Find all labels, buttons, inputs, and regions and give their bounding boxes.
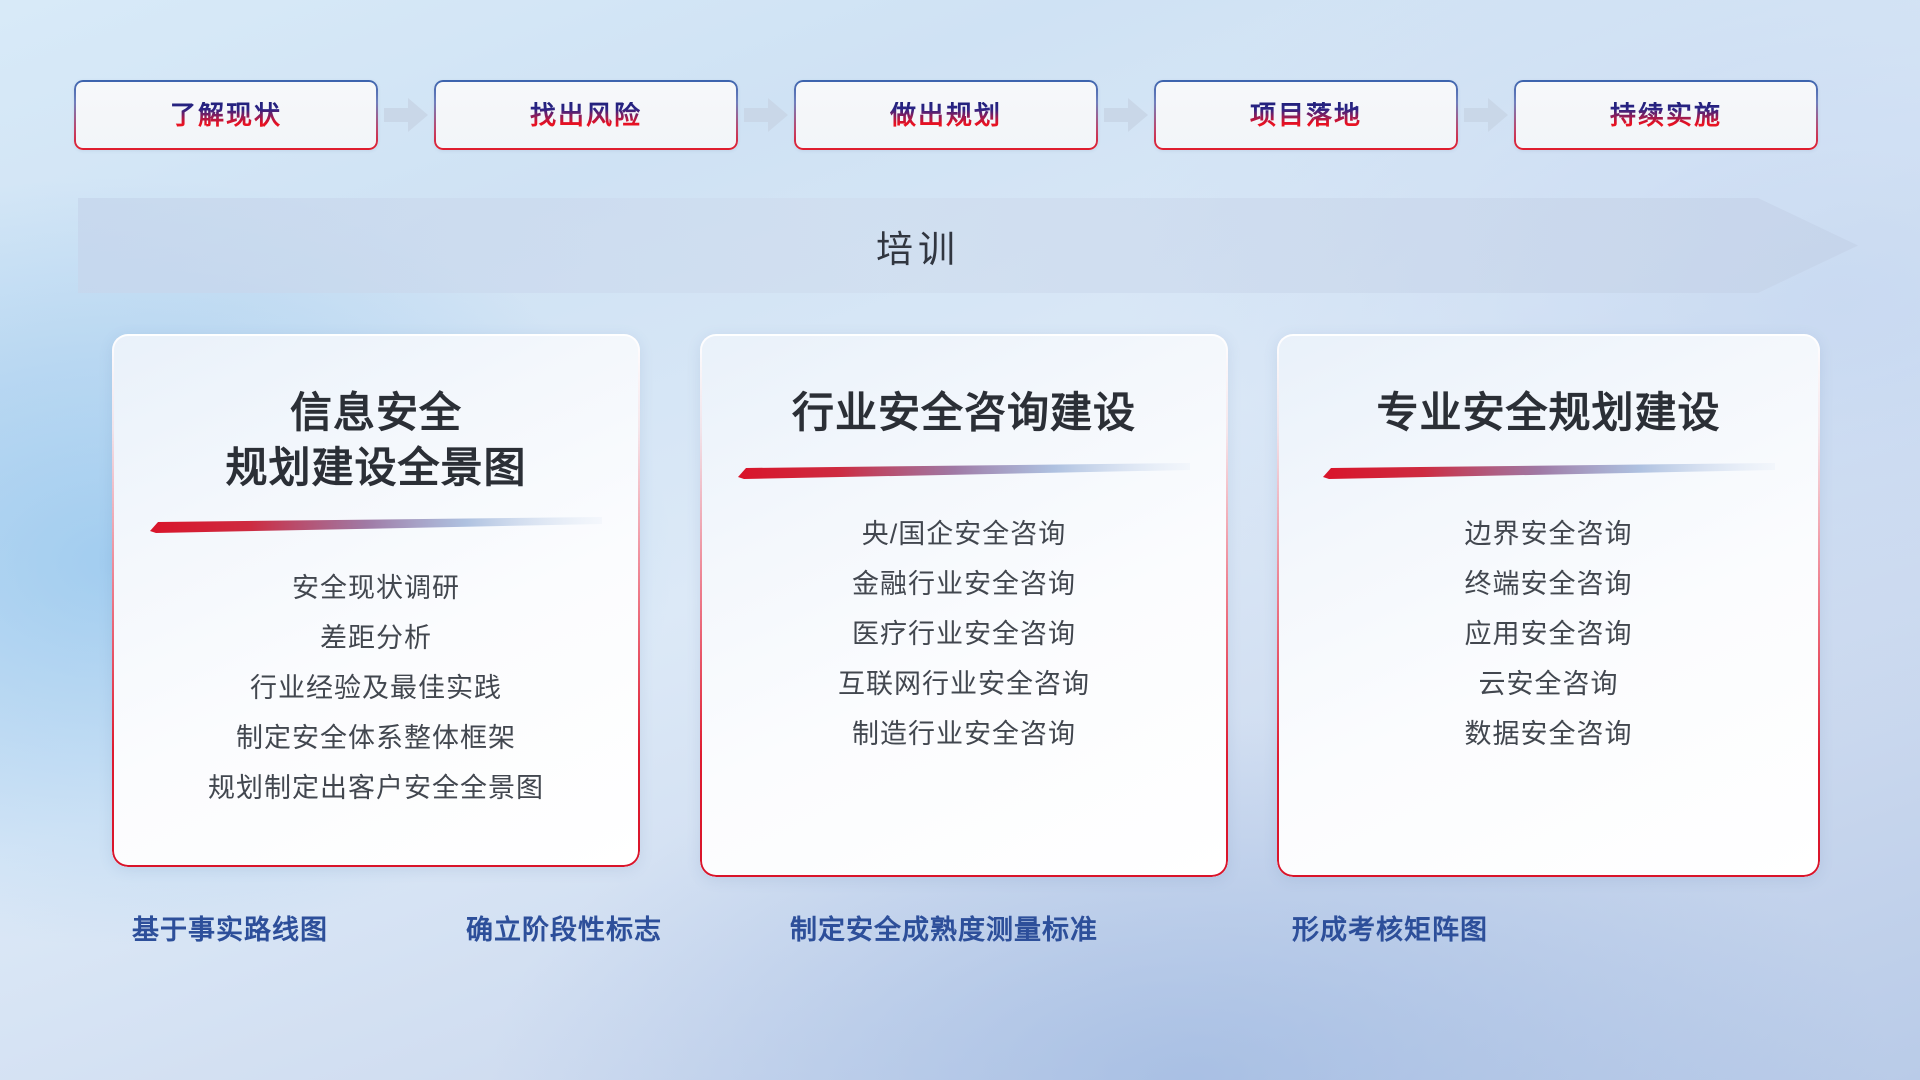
step-box-2[interactable]: 找出风险 [434, 80, 738, 150]
step-box-5[interactable]: 持续实施 [1514, 80, 1818, 150]
list-item: 制定安全体系整体框架 [236, 713, 516, 763]
card-1-inner: 信息安全 规划建设全景图 [112, 334, 640, 867]
step-box-1[interactable]: 了解现状 [74, 80, 378, 150]
list-item: 边界安全咨询 [1465, 509, 1633, 559]
step-label-5: 持续实施 [1610, 102, 1722, 128]
list-item: 差距分析 [320, 613, 432, 663]
step-arrow-icon-4 [1458, 95, 1514, 135]
footer-label-milestone: 确立阶段性标志 [466, 910, 662, 950]
card-3-list: 边界安全咨询 终端安全咨询 应用安全咨询 云安全咨询 数据安全咨询 [1465, 509, 1633, 759]
list-item: 应用安全咨询 [1465, 609, 1633, 659]
step-label-3: 做出规划 [890, 102, 1002, 128]
step-box-3[interactable]: 做出规划 [794, 80, 1098, 150]
list-item: 央/国企安全咨询 [862, 509, 1067, 559]
card-industry-security-consulting[interactable]: 行业安全咨询建设 [700, 334, 1228, 877]
list-item: 数据安全咨询 [1465, 709, 1633, 759]
list-item: 规划制定出客户安全全景图 [208, 763, 544, 813]
step-box-4[interactable]: 项目落地 [1154, 80, 1458, 150]
card-3-title: 专业安全规划建设 [1376, 386, 1720, 441]
step-label-4: 项目落地 [1250, 102, 1362, 128]
footer-label-row: 基于事实路线图 确立阶段性标志 制定安全成熟度测量标准 形成考核矩阵图 [0, 910, 1920, 960]
card-row: 信息安全 规划建设全景图 [0, 334, 1920, 874]
step-arrow-icon-3 [1098, 95, 1154, 135]
list-item: 互联网行业安全咨询 [838, 659, 1090, 709]
list-item: 制造行业安全咨询 [852, 709, 1076, 759]
list-item: 终端安全咨询 [1465, 559, 1633, 609]
list-item: 云安全咨询 [1479, 659, 1619, 709]
banner-title: 培训 [78, 198, 1758, 293]
card-2-inner: 行业安全咨询建设 [700, 334, 1228, 877]
card-3-inner: 专业安全规划建设 [1277, 334, 1820, 877]
card-information-security-blueprint[interactable]: 信息安全 规划建设全景图 [112, 334, 640, 867]
card-2-divider [738, 463, 1190, 479]
process-step-row: 了解现状 找出风险 做出规划 项目落地 [0, 76, 1920, 154]
slide-canvas: 了解现状 找出风险 做出规划 项目落地 [0, 0, 1920, 1080]
list-item: 金融行业安全咨询 [852, 559, 1076, 609]
step-arrow-icon-1 [378, 95, 434, 135]
list-item: 安全现状调研 [292, 563, 460, 613]
card-2-title: 行业安全咨询建设 [792, 386, 1136, 441]
card-1-divider [150, 517, 602, 533]
footer-label-matrix: 形成考核矩阵图 [1292, 910, 1488, 950]
footer-label-maturity: 制定安全成熟度测量标准 [790, 910, 1098, 950]
step-arrow-icon-2 [738, 95, 794, 135]
card-professional-security-planning[interactable]: 专业安全规划建设 [1277, 334, 1820, 877]
list-item: 医疗行业安全咨询 [852, 609, 1076, 659]
footer-label-roadmap: 基于事实路线图 [132, 910, 328, 950]
card-3-divider [1323, 463, 1775, 479]
training-banner: 培训 [78, 198, 1858, 293]
step-label-1: 了解现状 [170, 102, 282, 128]
list-item: 行业经验及最佳实践 [250, 663, 502, 713]
card-2-list: 央/国企安全咨询 金融行业安全咨询 医疗行业安全咨询 互联网行业安全咨询 制造行… [838, 509, 1090, 759]
card-1-list: 安全现状调研 差距分析 行业经验及最佳实践 制定安全体系整体框架 规划制定出客户… [208, 563, 544, 813]
step-label-2: 找出风险 [530, 102, 642, 128]
card-1-title: 信息安全 规划建设全景图 [225, 386, 526, 495]
